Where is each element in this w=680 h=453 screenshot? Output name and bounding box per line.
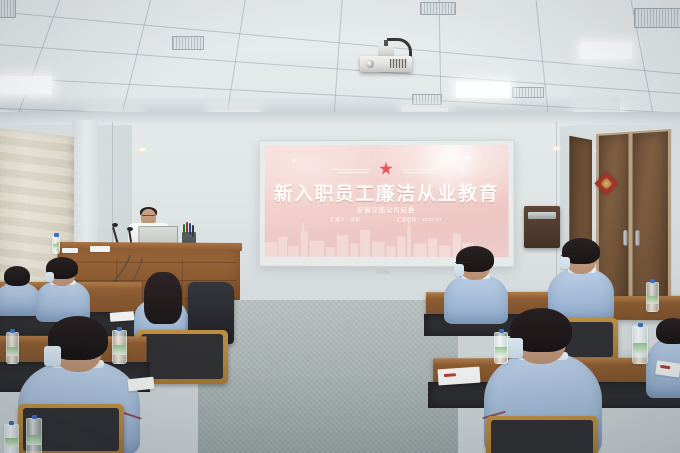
air-vent [0,0,16,18]
ceiling-panel-light [580,42,632,59]
attendee-hair [4,266,30,286]
chair-cushion [141,334,223,379]
pen [186,222,188,234]
screen-mount-foot [376,267,390,274]
slide-subtitle: 安徽交航公司纪委 [265,204,509,214]
handout-booklet [437,367,480,386]
microphone-head [112,223,118,227]
water-bottle [632,326,648,364]
slide-title: 新入职员工廉洁从业教育 [265,178,509,205]
recessed-downlight [138,147,147,152]
handout-booklet [110,311,135,322]
air-vent [634,8,680,28]
face-mask [506,338,523,358]
attendee-torso [444,274,508,324]
booklet-mark [444,373,456,377]
eyeglasses-icon [455,262,469,263]
face-mask [45,272,54,282]
water-bottle [646,282,659,312]
bottle-label [7,347,18,356]
water-bottle [26,418,42,453]
presenter-glasses-icon [142,215,155,219]
attendee-hair [656,318,680,344]
water-bottle [4,424,19,453]
water-bottle [52,236,60,254]
door-handle[interactable] [623,230,627,245]
door-handle[interactable] [636,230,640,246]
bottle-label [53,244,59,249]
decorative-ray [403,168,442,169]
city-skyline-silhouette-icon [265,219,486,257]
handout-booklet [127,377,154,392]
ceiling-soffit [0,112,680,125]
attendee-torso [0,282,40,316]
water-bottle [494,332,508,364]
podium-paper [62,248,78,253]
projector-vent [390,59,407,68]
booklet-mark [660,365,670,369]
ceiling-panel-light [0,76,52,94]
presentation-slide: ❄ ❄ ❄ 新入职员工廉洁从业教育 安徽交航公司纪委 汇报人：杨松 汇报时间：2… [265,145,509,258]
pen [189,223,191,235]
bottle-label [633,343,647,354]
pen [192,225,194,237]
water-bottle [6,332,19,364]
water-bottle [112,330,127,364]
bottle-label [113,345,126,355]
attendee-hair [144,272,182,324]
attendee-chair [486,416,598,453]
bottle-label [5,438,18,447]
air-vent [172,36,204,50]
red-star-icon [379,162,393,176]
projector-lens [366,60,374,68]
face-mask [454,264,464,276]
decorative-ray [332,169,371,170]
dove-icon: ❄ [290,158,298,166]
center-aisle-carpet [198,300,458,453]
microphone-head [127,227,133,231]
av-control-panel[interactable] [528,212,556,219]
face-mask [44,346,61,366]
chair-cushion [491,420,593,453]
decorative-ray [403,172,435,173]
air-vent [420,2,456,15]
ceiling-projector [360,42,412,72]
conference-room-photo: ❄ ❄ ❄ 新入职员工廉洁从业教育 安徽交航公司纪委 汇报人：杨松 汇报时间：2… [0,0,680,453]
podium-paper [90,246,110,252]
recessed-downlight [552,146,561,151]
eyeglasses-icon [561,255,575,256]
pen [183,224,185,236]
decorative-ray [337,172,369,173]
face-mask [560,257,570,269]
bottle-label [27,435,41,446]
bottle-label [495,347,507,356]
bottle-label [647,296,658,304]
